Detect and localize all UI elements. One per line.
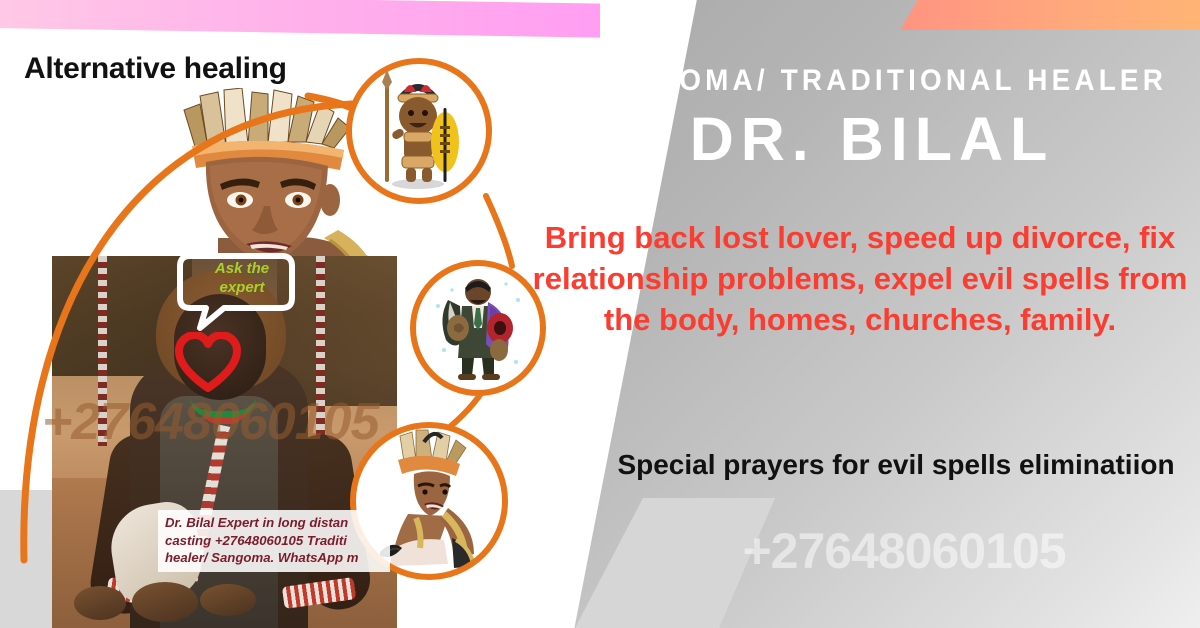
orange-gradient-band xyxy=(900,0,1200,30)
diviner-with-cape-illustration xyxy=(416,266,540,390)
heart-icon xyxy=(175,332,241,392)
speech-bubble-text: Ask the expert xyxy=(196,260,288,298)
bubble-zulu-warrior-child xyxy=(346,58,492,204)
services-text: Bring back lost lover, speed up divorce,… xyxy=(528,218,1192,341)
right-watermark-phone: +27648060105 xyxy=(620,522,1188,580)
healer-name: DR. BILAL xyxy=(560,104,1184,174)
zulu-warrior-child-illustration xyxy=(352,64,486,198)
photo-caption: Dr. Bilal Expert in long distan casting … xyxy=(158,510,390,572)
photo-watermark-phone: +27648060105 xyxy=(42,392,379,452)
poster-canvas: Alternative healing xyxy=(0,0,1200,628)
bubble-diviner-with-cape xyxy=(410,260,546,396)
offer-text: Special prayers for evil spells eliminat… xyxy=(600,446,1192,484)
kicker-subtitle: SANGOMA/ TRADITIONAL HEALER xyxy=(582,64,1162,98)
page-title: Alternative healing xyxy=(24,52,287,86)
pink-gradient-band xyxy=(0,0,600,38)
